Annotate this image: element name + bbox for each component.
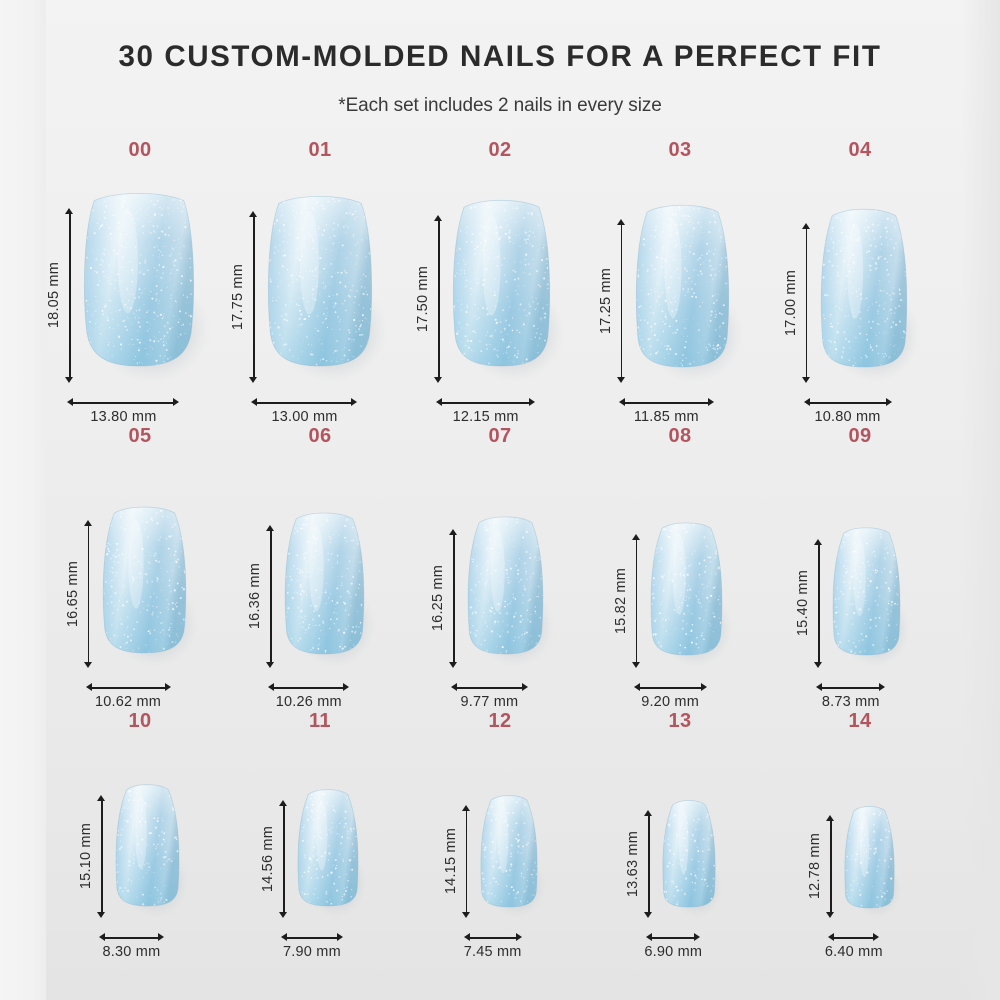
double-headed-vertical-arrow-icon <box>97 795 106 918</box>
height-dimension: 16.65 mm <box>65 520 93 668</box>
double-headed-vertical-arrow-icon <box>249 211 258 383</box>
height-dimension: 15.40 mm <box>795 539 823 668</box>
double-headed-vertical-arrow-icon <box>279 800 288 918</box>
height-value: 15.82 mm <box>613 568 629 634</box>
double-headed-vertical-arrow-icon <box>84 520 93 668</box>
width-dimension: 8.30 mm <box>99 933 164 960</box>
height-dimension: 17.25 mm <box>598 219 626 383</box>
width-dimension: 12.15 mm <box>436 398 535 425</box>
double-headed-vertical-arrow-icon <box>826 815 835 918</box>
nail-image <box>267 194 409 383</box>
width-value: 10.80 mm <box>815 409 881 425</box>
width-dimension: 7.90 mm <box>281 933 343 960</box>
width-dimension: 10.62 mm <box>86 683 171 710</box>
width-value: 10.62 mm <box>95 694 161 710</box>
nail-measurement-group: 18.05 mm <box>46 191 233 426</box>
width-value: 9.77 mm <box>461 694 519 710</box>
nail-cell-04[interactable]: 04 17.00 mm <box>770 139 950 425</box>
nail-figure <box>115 783 202 918</box>
double-headed-vertical-arrow-icon <box>632 534 641 668</box>
double-headed-horizontal-arrow-icon <box>86 683 171 692</box>
width-value: 9.20 mm <box>641 694 699 710</box>
nail-size-label: 06 <box>230 425 410 448</box>
width-value: 7.45 mm <box>464 944 522 960</box>
nail-figure <box>635 203 762 383</box>
nail-measurement-group: 15.40 mm <box>795 526 924 710</box>
nail-size-label: 07 <box>410 425 590 448</box>
double-headed-horizontal-arrow-icon <box>619 398 714 407</box>
nail-figure <box>83 191 233 384</box>
double-headed-horizontal-arrow-icon <box>451 683 528 692</box>
nail-cell-14[interactable]: 14 12.78 mm <box>770 710 950 960</box>
width-dimension: 8.73 mm <box>816 683 885 710</box>
height-dimension: 13.63 mm <box>625 810 653 918</box>
nail-image <box>83 191 233 384</box>
nail-row-2: 05 16.65 mm <box>0 425 1000 710</box>
page-title: 30 CUSTOM-MOLDED NAILS FOR A PERFECT FIT <box>8 40 993 74</box>
nail-image <box>820 207 938 383</box>
nail-figure <box>102 505 216 668</box>
nail-size-label: 14 <box>770 710 950 733</box>
nail-cell-08[interactable]: 08 15.82 mm <box>590 425 770 710</box>
nail-image <box>102 505 216 668</box>
nail-image <box>467 515 570 668</box>
width-value: 13.80 mm <box>90 409 156 425</box>
double-headed-horizontal-arrow-icon <box>99 933 164 942</box>
nail-size-grid: 00 18.05 mm <box>0 139 1000 960</box>
height-dimension: 17.75 mm <box>230 211 258 383</box>
nail-figure <box>480 794 558 918</box>
nail-image <box>844 805 912 918</box>
nail-row-3: 10 15.10 mm <box>0 710 1000 960</box>
height-value: 17.25 mm <box>598 268 614 334</box>
nail-size-label: 00 <box>50 139 230 162</box>
nail-cell-12[interactable]: 12 14.15 mm <box>410 710 590 960</box>
width-value: 6.40 mm <box>825 944 883 960</box>
width-dimension: 7.45 mm <box>464 933 522 960</box>
nail-cell-11[interactable]: 11 14.56 mm <box>230 710 410 960</box>
nail-figure <box>467 515 570 668</box>
page-subtitle: *Each set includes 2 nails in every size <box>0 95 1000 117</box>
width-dimension: 9.20 mm <box>634 683 707 710</box>
nail-measurement-group: 16.65 mm <box>65 505 216 710</box>
nail-measurement-group: 17.75 mm <box>230 194 409 425</box>
double-headed-vertical-arrow-icon <box>434 215 443 383</box>
nail-cell-02[interactable]: 02 17.50 mm <box>410 139 590 425</box>
height-dimension: 17.00 mm <box>783 223 811 383</box>
nail-size-chart-page: 30 CUSTOM-MOLDED NAILS FOR A PERFECT FIT… <box>0 0 1000 1000</box>
nail-figure <box>452 198 585 383</box>
nail-size-label: 03 <box>590 139 770 162</box>
nail-figure <box>650 521 748 668</box>
double-headed-horizontal-arrow-icon <box>436 398 535 407</box>
double-headed-vertical-arrow-icon <box>814 539 823 668</box>
nail-image <box>284 511 393 668</box>
nail-image <box>480 794 558 918</box>
double-headed-vertical-arrow-icon <box>802 223 811 383</box>
nail-size-label: 09 <box>770 425 950 448</box>
nail-size-label: 04 <box>770 139 950 162</box>
nail-measurement-group: 17.25 mm <box>598 203 762 425</box>
double-headed-vertical-arrow-icon <box>449 529 458 668</box>
nail-cell-00[interactable]: 00 18.05 mm <box>50 139 230 425</box>
height-dimension: 17.50 mm <box>415 215 443 383</box>
height-value: 17.00 mm <box>783 270 799 336</box>
nail-measurement-group: 14.15 mm <box>443 794 558 960</box>
height-dimension: 14.15 mm <box>443 805 471 918</box>
nail-measurement-group: 14.56 mm <box>260 788 380 960</box>
nail-measurement-group: 17.00 mm <box>783 207 938 425</box>
height-value: 14.15 mm <box>443 828 459 894</box>
nail-cell-07[interactable]: 07 16.25 mm <box>410 425 590 710</box>
width-value: 12.15 mm <box>453 409 519 425</box>
height-value: 15.40 mm <box>795 570 811 636</box>
nail-size-label: 10 <box>50 710 230 733</box>
width-dimension: 10.26 mm <box>268 683 349 710</box>
nail-cell-09[interactable]: 09 15.40 mm <box>770 425 950 710</box>
double-headed-vertical-arrow-icon <box>462 805 471 918</box>
nail-size-label: 05 <box>50 425 230 448</box>
height-dimension: 16.36 mm <box>247 525 275 668</box>
nail-image <box>832 526 924 668</box>
double-headed-horizontal-arrow-icon <box>646 933 700 942</box>
nail-size-label: 12 <box>410 710 590 733</box>
height-dimension: 14.56 mm <box>260 800 288 918</box>
nail-size-label: 11 <box>230 710 410 733</box>
height-value: 15.10 mm <box>78 823 94 889</box>
double-headed-horizontal-arrow-icon <box>251 398 357 407</box>
nail-figure <box>662 799 734 918</box>
nail-figure <box>832 526 924 668</box>
nail-cell-03[interactable]: 03 17.25 mm <box>590 139 770 425</box>
nail-measurement-group: 13.63 mm <box>625 799 734 960</box>
nail-measurement-group: 15.82 mm <box>613 521 748 710</box>
double-headed-horizontal-arrow-icon <box>67 398 179 407</box>
nail-image <box>662 799 734 918</box>
width-dimension: 6.40 mm <box>828 933 879 960</box>
nail-figure <box>297 788 380 918</box>
header: 30 CUSTOM-MOLDED NAILS FOR A PERFECT FIT… <box>0 0 1000 117</box>
nail-figure <box>820 207 938 383</box>
width-dimension: 11.85 mm <box>619 398 714 425</box>
width-dimension: 9.77 mm <box>451 683 528 710</box>
nail-measurement-group: 17.50 mm <box>415 198 585 425</box>
height-dimension: 18.05 mm <box>46 208 74 383</box>
height-value: 18.05 mm <box>46 262 62 328</box>
nail-measurement-group: 16.36 mm <box>247 511 393 710</box>
width-value: 10.26 mm <box>276 694 342 710</box>
width-dimension: 13.00 mm <box>251 398 357 425</box>
double-headed-horizontal-arrow-icon <box>816 683 885 692</box>
height-value: 16.65 mm <box>65 561 81 627</box>
nail-image <box>297 788 380 918</box>
height-dimension: 12.78 mm <box>807 815 835 918</box>
double-headed-vertical-arrow-icon <box>617 219 626 383</box>
nail-measurement-group: 12.78 mm <box>807 805 912 960</box>
height-dimension: 16.25 mm <box>430 529 458 668</box>
nail-cell-05[interactable]: 05 16.65 mm <box>50 425 230 710</box>
nail-size-label: 13 <box>590 710 770 733</box>
double-headed-vertical-arrow-icon <box>266 525 275 668</box>
width-value: 11.85 mm <box>634 409 699 425</box>
nail-cell-01[interactable]: 01 17.75 mm <box>230 139 410 425</box>
height-value: 16.25 mm <box>430 565 446 631</box>
nail-measurement-group: 16.25 mm <box>430 515 570 710</box>
double-headed-horizontal-arrow-icon <box>804 398 892 407</box>
nail-row-1: 00 18.05 mm <box>0 139 1000 425</box>
nail-size-label: 02 <box>410 139 590 162</box>
nail-image <box>635 203 762 383</box>
nail-figure <box>844 805 912 918</box>
width-value: 6.90 mm <box>644 944 702 960</box>
height-value: 12.78 mm <box>807 833 823 899</box>
width-value: 7.90 mm <box>283 944 341 960</box>
width-dimension: 10.80 mm <box>804 398 892 425</box>
height-value: 14.56 mm <box>260 826 276 892</box>
double-headed-horizontal-arrow-icon <box>828 933 879 942</box>
nail-image <box>452 198 585 383</box>
height-value: 17.75 mm <box>230 264 246 330</box>
double-headed-horizontal-arrow-icon <box>268 683 349 692</box>
nail-cell-06[interactable]: 06 16.36 mm <box>230 425 410 710</box>
double-headed-horizontal-arrow-icon <box>281 933 343 942</box>
height-value: 16.36 mm <box>247 563 263 629</box>
double-headed-horizontal-arrow-icon <box>464 933 522 942</box>
height-value: 13.63 mm <box>625 831 641 897</box>
width-dimension: 13.80 mm <box>67 398 179 425</box>
nail-cell-13[interactable]: 13 13.63 mm <box>590 710 770 960</box>
width-dimension: 6.90 mm <box>646 933 700 960</box>
width-value: 8.30 mm <box>103 944 161 960</box>
nail-figure <box>267 194 409 383</box>
nail-size-label: 08 <box>590 425 770 448</box>
nail-image <box>650 521 748 668</box>
nail-image <box>115 783 202 918</box>
width-value: 13.00 mm <box>271 409 337 425</box>
height-value: 17.50 mm <box>415 266 431 332</box>
double-headed-vertical-arrow-icon <box>644 810 653 918</box>
nail-cell-10[interactable]: 10 15.10 mm <box>50 710 230 960</box>
width-value: 8.73 mm <box>822 694 880 710</box>
height-dimension: 15.10 mm <box>78 795 106 918</box>
nail-figure <box>284 511 393 668</box>
double-headed-vertical-arrow-icon <box>65 208 74 383</box>
double-headed-horizontal-arrow-icon <box>634 683 707 692</box>
nail-size-label: 01 <box>230 139 410 162</box>
height-dimension: 15.82 mm <box>613 534 641 668</box>
nail-measurement-group: 15.10 mm <box>78 783 202 960</box>
